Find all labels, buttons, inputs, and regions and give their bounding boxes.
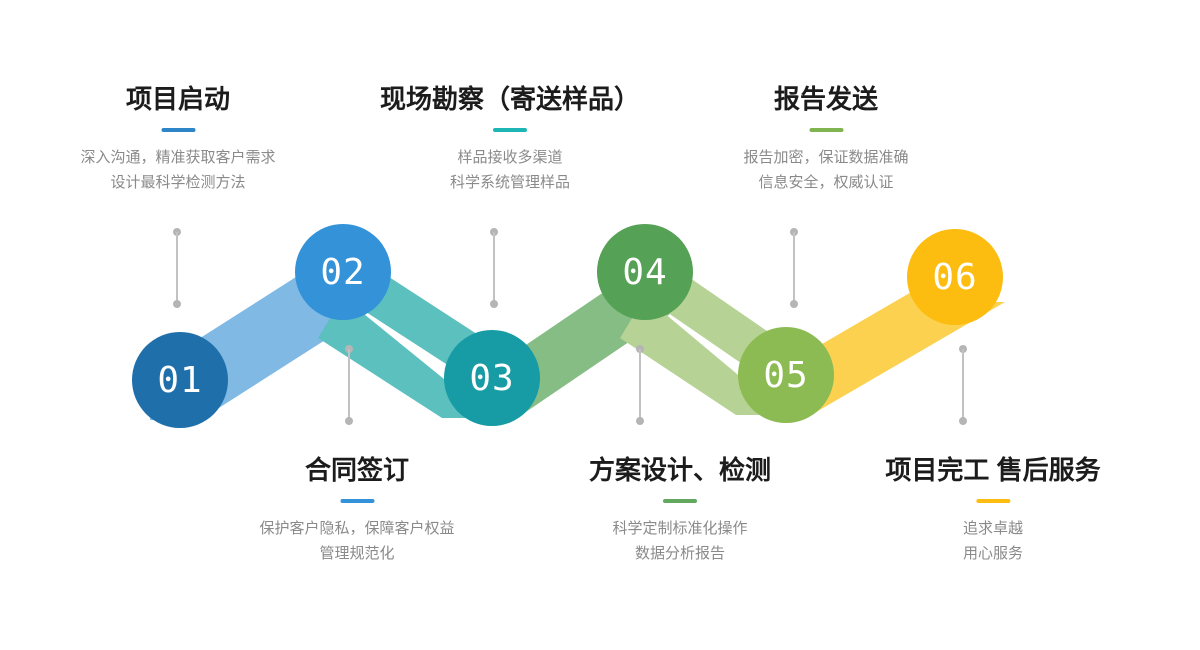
caption-bottom-1: 合同签订 保护客户隐私，保障客户权益 管理规范化 xyxy=(259,455,454,567)
stem-line xyxy=(348,349,350,421)
caption-desc-line1: 保护客户隐私，保障客户权益 xyxy=(259,517,454,542)
caption-title: 项目完工 售后服务 xyxy=(885,455,1100,486)
caption-accent-rule xyxy=(663,499,697,503)
step-node-03[interactable]: 03 xyxy=(444,330,540,426)
stem-dot-bottom xyxy=(636,417,644,425)
caption-accent-rule xyxy=(976,499,1010,503)
step-number-label: 03 xyxy=(469,358,514,399)
caption-title: 合同签订 xyxy=(259,455,454,486)
step-node-02[interactable]: 02 xyxy=(295,224,391,320)
caption-accent-rule xyxy=(493,128,527,132)
stem-line xyxy=(962,349,964,421)
caption-desc-line2: 科学系统管理样品 xyxy=(380,171,640,196)
caption-desc-line2: 信息安全，权威认证 xyxy=(743,171,908,196)
caption-top-2: 现场勘察（寄送样品） 样品接收多渠道 科学系统管理样品 xyxy=(380,84,640,196)
caption-desc-line2: 设计最科学检测方法 xyxy=(80,171,275,196)
caption-bottom-3: 项目完工 售后服务 追求卓越 用心服务 xyxy=(885,455,1100,567)
caption-desc-line1: 科学定制标准化操作 xyxy=(589,517,771,542)
stem-dot-bottom xyxy=(790,300,798,308)
caption-accent-rule xyxy=(340,499,374,503)
step-node-04[interactable]: 04 xyxy=(597,224,693,320)
step-node-06[interactable]: 06 xyxy=(907,229,1003,325)
caption-desc-line1: 报告加密，保证数据准确 xyxy=(743,146,908,171)
caption-title: 现场勘察（寄送样品） xyxy=(380,84,640,115)
caption-desc-line1: 深入沟通，精准获取客户需求 xyxy=(80,146,275,171)
stem-connector-3 xyxy=(490,228,498,308)
step-node-01[interactable]: 01 xyxy=(132,332,228,428)
caption-desc-line2: 数据分析报告 xyxy=(589,542,771,567)
caption-desc-line1: 追求卓越 xyxy=(885,517,1100,542)
stem-connector-6 xyxy=(959,345,967,425)
caption-title: 方案设计、检测 xyxy=(589,455,771,486)
stem-dot-bottom xyxy=(490,300,498,308)
stem-connector-2 xyxy=(345,345,353,425)
stem-line xyxy=(176,232,178,304)
stem-dot-bottom xyxy=(345,417,353,425)
caption-desc-line2: 管理规范化 xyxy=(259,542,454,567)
stem-connector-5 xyxy=(790,228,798,308)
stem-line xyxy=(493,232,495,304)
caption-desc-line1: 样品接收多渠道 xyxy=(380,146,640,171)
step-number-label: 06 xyxy=(932,257,977,298)
caption-desc-line2: 用心服务 xyxy=(885,542,1100,567)
step-number-label: 05 xyxy=(763,355,808,396)
stem-dot-bottom xyxy=(173,300,181,308)
step-number-label: 01 xyxy=(157,360,202,401)
stem-dot-bottom xyxy=(959,417,967,425)
step-number-label: 02 xyxy=(320,252,365,293)
stem-connector-1 xyxy=(173,228,181,308)
stem-line xyxy=(639,349,641,421)
caption-top-1: 项目启动 深入沟通，精准获取客户需求 设计最科学检测方法 xyxy=(80,84,275,196)
caption-accent-rule xyxy=(809,128,843,132)
caption-accent-rule xyxy=(161,128,195,132)
caption-top-3: 报告发送 报告加密，保证数据准确 信息安全，权威认证 xyxy=(743,84,908,196)
infographic-canvas: 01 02 03 04 05 06 项目启动 深入沟通，精准获取客户需求 设计最… xyxy=(0,0,1200,650)
step-node-05[interactable]: 05 xyxy=(738,327,834,423)
caption-bottom-2: 方案设计、检测 科学定制标准化操作 数据分析报告 xyxy=(589,455,771,567)
step-number-label: 04 xyxy=(622,252,667,293)
caption-title: 项目启动 xyxy=(80,84,275,115)
stem-line xyxy=(793,232,795,304)
caption-title: 报告发送 xyxy=(743,84,908,115)
stem-connector-4 xyxy=(636,345,644,425)
